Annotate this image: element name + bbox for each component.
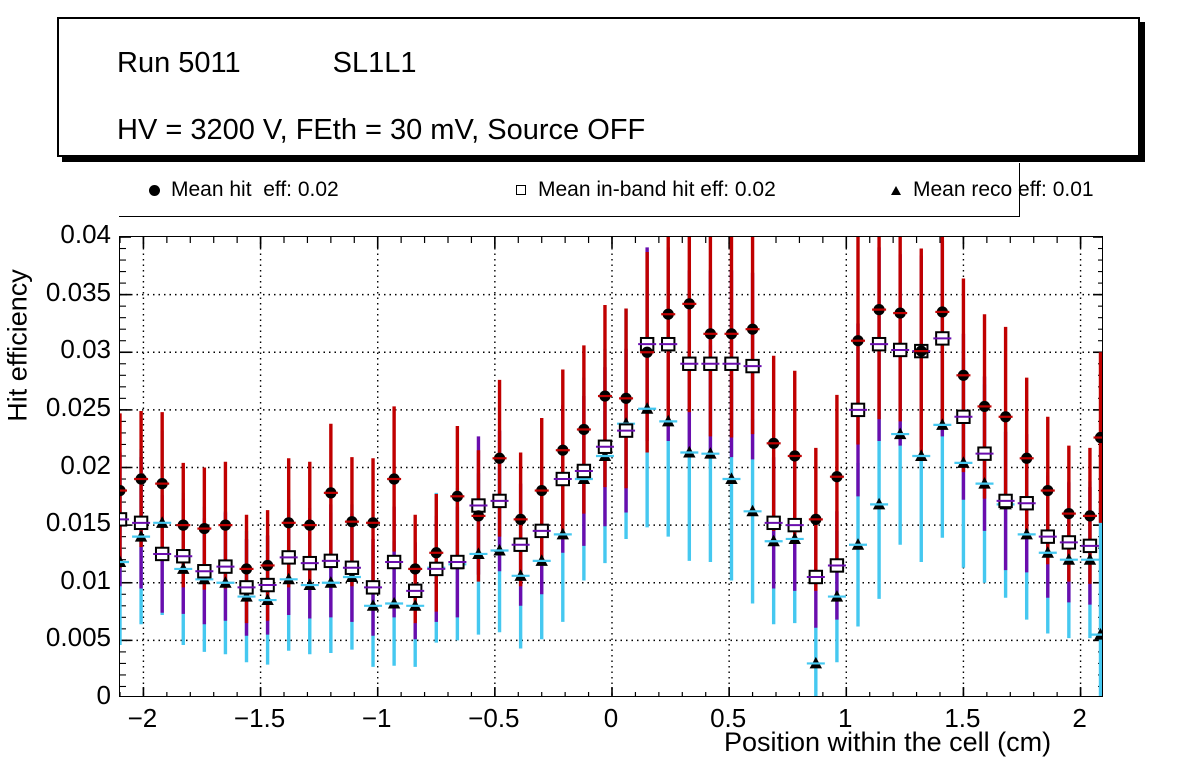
title-box: Run 5011SL1L1 HV = 3200 V, FEth = 30 mV,…: [57, 17, 1140, 157]
title-conditions-line: HV = 3200 V, FEth = 30 mV, Source OFF: [117, 114, 645, 147]
filled-circle-icon: [137, 185, 171, 196]
y-tick-label: 0.04: [15, 219, 111, 250]
legend-entry-hit-eff: Mean hit eff: 0.02: [137, 163, 339, 217]
x-tick-label: −1: [337, 703, 417, 734]
y-tick-label: 0.03: [15, 334, 111, 365]
open-square-icon: [504, 185, 538, 195]
title-run-line: Run 5011SL1L1: [117, 47, 416, 80]
legend-label-reco-eff: Mean reco eff: 0.01: [913, 178, 1094, 202]
legend: Mean hit eff: 0.02 Mean in-band hit eff:…: [119, 163, 1020, 217]
chart-page: Run 5011SL1L1 HV = 3200 V, FEth = 30 mV,…: [0, 0, 1196, 772]
legend-entry-reco-eff: Mean reco eff: 0.01: [879, 163, 1094, 217]
x-tick-label: −0.5: [454, 703, 534, 734]
y-tick-label: 0: [15, 680, 111, 711]
plot-area: [119, 236, 1103, 697]
y-tick-label: 0.035: [15, 277, 111, 308]
legend-label-hit-eff: Mean hit eff: 0.02: [171, 178, 339, 202]
y-tick-label: 0.005: [15, 622, 111, 653]
x-tick-label: 0: [571, 703, 651, 734]
y-tick-label: 0.02: [15, 450, 111, 481]
legend-entry-inband-eff: Mean in-band hit eff: 0.02: [504, 163, 776, 217]
legend-label-inband-eff: Mean in-band hit eff: 0.02: [538, 178, 776, 202]
superlayer-label: SL1L1: [333, 47, 417, 79]
y-tick-label: 0.01: [15, 565, 111, 596]
y-tick-label: 0.025: [15, 392, 111, 423]
filled-triangle-icon: [879, 186, 913, 195]
x-tick-label: −1.5: [220, 703, 300, 734]
x-tick-label: 2: [1040, 703, 1120, 734]
plot-inner: [120, 237, 1102, 696]
data-series-layer: [120, 237, 1102, 696]
run-label: Run 5011: [117, 47, 241, 79]
x-tick-label: −2: [102, 703, 182, 734]
x-axis-label: Position within the cell (cm): [724, 727, 1051, 758]
y-tick-label: 0.015: [15, 507, 111, 538]
